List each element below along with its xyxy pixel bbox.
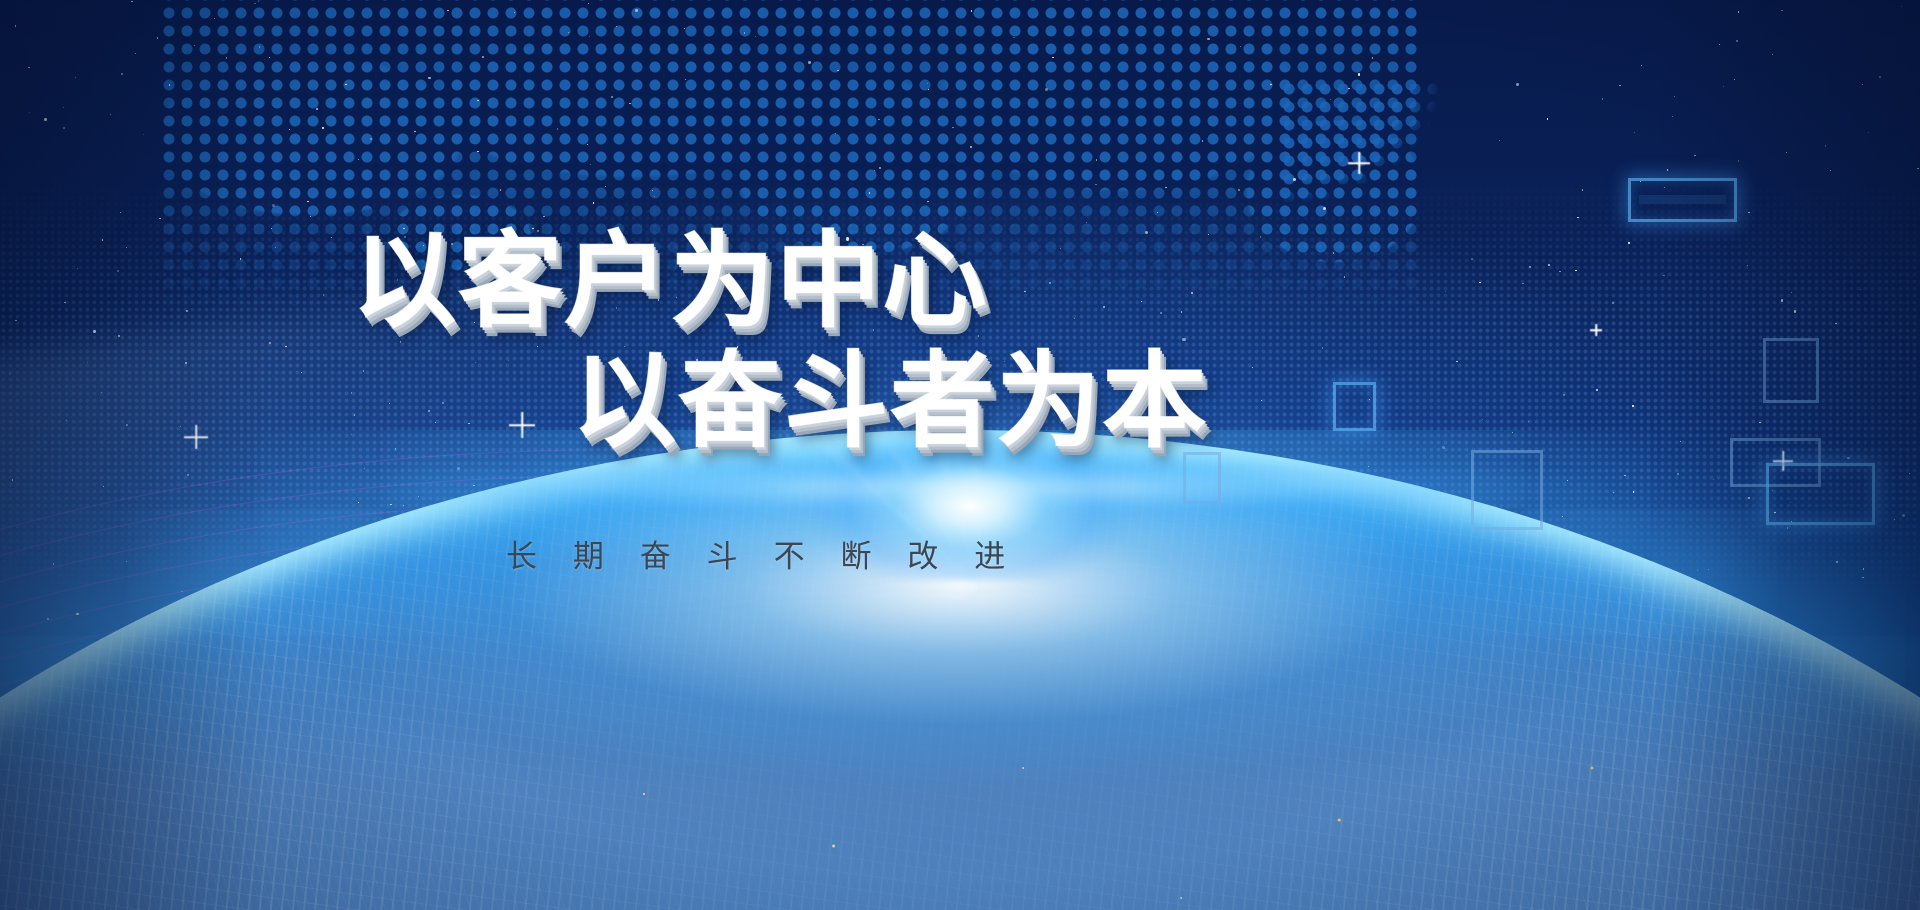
star-dot bbox=[1723, 86, 1724, 87]
star-dot bbox=[269, 57, 270, 58]
star-dot bbox=[593, 202, 594, 203]
star-dot bbox=[1547, 118, 1548, 119]
star-dot bbox=[404, 236, 405, 237]
star-dot bbox=[1344, 276, 1345, 277]
star-dot bbox=[1330, 99, 1331, 100]
star-dot bbox=[169, 84, 170, 85]
star-dot bbox=[254, 3, 255, 4]
star-dot bbox=[1759, 422, 1760, 423]
star-dot bbox=[143, 134, 144, 135]
star-dot bbox=[15, 25, 16, 26]
star-dot bbox=[744, 32, 745, 33]
star-dot bbox=[846, 237, 849, 240]
star-dot bbox=[285, 346, 286, 347]
star-dot bbox=[1879, 76, 1880, 77]
star-dot bbox=[927, 201, 928, 202]
star-dot bbox=[126, 247, 127, 248]
star-dot bbox=[240, 258, 241, 259]
star-dot bbox=[451, 243, 452, 244]
star-dot bbox=[331, 237, 332, 238]
star-dot bbox=[414, 131, 415, 132]
star-dot bbox=[537, 346, 538, 347]
star-dot bbox=[1860, 289, 1861, 290]
star-dot bbox=[351, 392, 352, 393]
star-dot bbox=[1602, 98, 1603, 99]
star-dot bbox=[1372, 57, 1373, 58]
frame-tall-mid bbox=[1763, 338, 1819, 403]
star-dot bbox=[971, 10, 972, 11]
star-dot bbox=[1719, 44, 1720, 45]
star-dot bbox=[611, 96, 613, 98]
star-dot bbox=[652, 190, 653, 191]
star-dot bbox=[902, 276, 903, 277]
star-dot bbox=[301, 372, 302, 373]
star-dot bbox=[685, 79, 686, 80]
star-dot bbox=[117, 270, 119, 272]
star-dot bbox=[1791, 292, 1792, 293]
frame-landscape-lower bbox=[1766, 463, 1875, 525]
star-dot bbox=[64, 302, 65, 303]
star-dot bbox=[477, 100, 478, 101]
star-dot bbox=[1060, 248, 1061, 249]
star-dot bbox=[588, 3, 589, 4]
star-dot bbox=[269, 342, 271, 344]
star-dot bbox=[275, 247, 276, 248]
star-dot bbox=[66, 420, 67, 421]
star-dot bbox=[397, 279, 398, 280]
star-dot bbox=[1734, 79, 1735, 80]
star-dot bbox=[1830, 170, 1831, 171]
star-dot bbox=[428, 410, 429, 411]
star-dot bbox=[370, 138, 371, 139]
star-dot bbox=[616, 26, 617, 27]
star-dot bbox=[862, 244, 863, 245]
star-dot bbox=[121, 73, 123, 75]
star-dot bbox=[654, 196, 655, 197]
star-dot bbox=[717, 256, 720, 259]
star-dot bbox=[75, 77, 76, 78]
star-dot bbox=[9, 373, 10, 374]
star-dot bbox=[447, 10, 448, 11]
star-dot bbox=[1202, 140, 1203, 141]
star-dot bbox=[403, 228, 404, 229]
star-dot bbox=[1781, 10, 1782, 11]
star-dot bbox=[477, 151, 478, 152]
star-dot bbox=[1862, 84, 1863, 85]
star-dot bbox=[1563, 394, 1565, 396]
star-dot bbox=[15, 320, 16, 321]
star-dot bbox=[469, 247, 470, 248]
star-dot bbox=[29, 112, 30, 113]
star-dot bbox=[101, 392, 102, 393]
poster-canvas: 以客户为中心 以奋斗者为本 长 期 奋 斗 不 断 改 进 bbox=[0, 0, 1920, 910]
star-dot bbox=[1628, 242, 1629, 243]
subtitle-slogan: 长 期 奋 斗 不 断 改 进 bbox=[506, 531, 1018, 576]
star-dot bbox=[442, 402, 444, 404]
star-dot bbox=[1738, 160, 1739, 161]
star-dot bbox=[532, 228, 533, 229]
star-dot bbox=[186, 310, 187, 311]
star-dot bbox=[1348, 88, 1349, 89]
star-dot bbox=[1095, 184, 1096, 185]
star-dot bbox=[428, 77, 430, 79]
star-dot bbox=[1238, 189, 1240, 191]
star-dot bbox=[159, 218, 160, 219]
star-dot bbox=[1358, 73, 1360, 75]
star-dot bbox=[1674, 96, 1675, 97]
star-dot bbox=[869, 192, 870, 193]
star-dot bbox=[1559, 271, 1560, 272]
star-dot bbox=[1270, 84, 1271, 85]
star-dot bbox=[259, 46, 260, 47]
star-dot bbox=[537, 230, 538, 231]
star-dot bbox=[1781, 299, 1783, 301]
star-dot bbox=[44, 118, 47, 121]
star-dot bbox=[1529, 266, 1530, 267]
star-dot bbox=[1207, 38, 1209, 40]
star-dot bbox=[835, 133, 836, 134]
star-dot bbox=[135, 53, 136, 54]
star-dot bbox=[676, 297, 677, 298]
star-dot bbox=[874, 170, 875, 171]
star-dot bbox=[28, 67, 29, 68]
frame-tiny-left-of-wei bbox=[1183, 452, 1221, 504]
star-dot bbox=[1786, 152, 1787, 153]
star-dot bbox=[1482, 419, 1483, 420]
star-dot bbox=[1672, 116, 1673, 117]
star-dot bbox=[629, 103, 630, 104]
star-dot bbox=[808, 61, 811, 64]
star-dot bbox=[522, 287, 523, 288]
star-dot bbox=[980, 284, 981, 285]
star-dot bbox=[539, 257, 540, 258]
star-dot bbox=[1596, 389, 1598, 391]
star-sparkle bbox=[1590, 324, 1602, 336]
star-sparkle bbox=[1348, 152, 1370, 174]
star-dot bbox=[1165, 187, 1166, 188]
star-dot bbox=[1901, 6, 1902, 7]
star-dot bbox=[271, 228, 272, 229]
star-dot bbox=[345, 84, 346, 85]
star-dot bbox=[289, 129, 290, 130]
star-dot bbox=[1634, 132, 1635, 133]
star-dot bbox=[307, 201, 308, 202]
star-dot bbox=[214, 18, 215, 19]
star-dot bbox=[1516, 83, 1519, 86]
star-dot bbox=[1577, 217, 1578, 218]
star-dot bbox=[568, 32, 569, 33]
star-dot bbox=[553, 295, 555, 297]
star-dot bbox=[1748, 212, 1749, 213]
star-dot bbox=[1471, 258, 1473, 260]
star-dot bbox=[1738, 11, 1739, 12]
star-dot bbox=[120, 212, 121, 213]
star-dot bbox=[879, 167, 880, 168]
star-dot bbox=[1667, 169, 1668, 170]
star-dot bbox=[194, 45, 195, 46]
star-dot bbox=[1013, 37, 1014, 38]
star-dot bbox=[1663, 275, 1664, 276]
star-dot bbox=[157, 37, 158, 38]
star-dot bbox=[1835, 323, 1836, 324]
star-dot bbox=[557, 128, 558, 129]
star-dot bbox=[605, 186, 606, 187]
star-dot bbox=[484, 285, 485, 286]
star-dot bbox=[185, 362, 187, 364]
star-dot bbox=[258, 1, 259, 2]
star-dot bbox=[1456, 361, 1457, 362]
star-dot bbox=[1528, 421, 1529, 422]
star-dot bbox=[1145, 231, 1148, 234]
star-dot bbox=[389, 403, 390, 404]
star-dot bbox=[1522, 283, 1523, 284]
star-dot bbox=[322, 127, 323, 128]
star-dot bbox=[878, 119, 879, 120]
frame-portrait-left bbox=[1471, 450, 1543, 530]
star-dot bbox=[1191, 292, 1193, 294]
star-dot bbox=[468, 423, 469, 424]
star-dot bbox=[764, 133, 765, 134]
star-dot bbox=[1619, 85, 1620, 86]
star-dot bbox=[363, 370, 364, 371]
star-dot bbox=[272, 204, 275, 207]
star-dot bbox=[928, 89, 929, 90]
star-dot bbox=[63, 107, 64, 108]
star-dot bbox=[474, 322, 475, 323]
star-dot bbox=[543, 216, 544, 217]
star-dot bbox=[1157, 212, 1158, 213]
star-dot bbox=[508, 360, 509, 361]
star-dot bbox=[87, 362, 88, 363]
star-dot bbox=[1612, 302, 1613, 303]
star-dot bbox=[500, 189, 501, 190]
star-dot bbox=[423, 245, 424, 246]
star-dot bbox=[482, 56, 484, 58]
star-dot bbox=[1052, 57, 1053, 58]
star-dot bbox=[1575, 270, 1576, 271]
star-dot bbox=[1208, 234, 1209, 235]
star-dot bbox=[684, 28, 685, 29]
star-dot bbox=[1293, 178, 1296, 181]
star-dot bbox=[358, 159, 359, 160]
star-dot bbox=[102, 239, 103, 240]
frame-bar-top-right-inner-bar bbox=[1639, 195, 1726, 203]
star-dot bbox=[970, 146, 971, 147]
star-dot bbox=[1445, 291, 1446, 292]
star-dot bbox=[93, 330, 96, 333]
star-dot bbox=[1096, 159, 1097, 160]
star-dot bbox=[366, 297, 367, 298]
star-dot bbox=[1825, 145, 1826, 146]
star-dot bbox=[590, 164, 591, 165]
frame-bar-top-right bbox=[1628, 178, 1737, 222]
star-dot bbox=[1794, 310, 1796, 312]
star-dot bbox=[927, 83, 928, 84]
star-dot bbox=[755, 36, 756, 37]
star-dot bbox=[110, 114, 111, 115]
star-dot bbox=[587, 144, 588, 145]
star-dot bbox=[323, 294, 324, 295]
star-dot bbox=[1479, 282, 1480, 283]
star-dot bbox=[514, 12, 515, 13]
star-dot bbox=[1499, 140, 1500, 141]
star-dot bbox=[837, 70, 838, 71]
star-dot bbox=[310, 216, 311, 217]
star-dot bbox=[1736, 40, 1737, 41]
star-dot bbox=[226, 57, 227, 58]
star-dot bbox=[118, 335, 119, 336]
star-dot bbox=[1024, 291, 1025, 292]
star-dot bbox=[1323, 207, 1326, 210]
star-dot bbox=[354, 414, 355, 415]
star-dot bbox=[435, 422, 436, 423]
star-dot bbox=[1240, 46, 1241, 47]
star-dot bbox=[1049, 282, 1050, 283]
star-dot bbox=[381, 308, 382, 309]
star-dot bbox=[1772, 54, 1773, 55]
star-dot bbox=[1548, 264, 1549, 265]
star-dot bbox=[1868, 132, 1869, 133]
star-dot bbox=[131, 1, 132, 2]
star-dot bbox=[316, 108, 318, 110]
star-dot bbox=[1086, 222, 1087, 223]
star-dot bbox=[1632, 405, 1633, 406]
star-dot bbox=[63, 127, 65, 129]
star-dot bbox=[589, 36, 590, 37]
star-dot bbox=[952, 127, 953, 128]
star-dot bbox=[1260, 236, 1261, 237]
star-dot bbox=[635, 9, 638, 12]
star-dot bbox=[1582, 189, 1583, 190]
star-dot bbox=[475, 362, 476, 363]
star-dot bbox=[605, 284, 606, 285]
star-dot bbox=[595, 391, 596, 392]
star-dot bbox=[77, 268, 78, 269]
star-dot bbox=[581, 301, 582, 302]
star-dot bbox=[400, 341, 401, 342]
frame-small-upper-left bbox=[1333, 382, 1376, 431]
star-dot bbox=[1694, 155, 1695, 156]
star-dot bbox=[1917, 168, 1918, 169]
star-dot bbox=[1747, 265, 1748, 266]
star-dot bbox=[1045, 88, 1048, 91]
star-dot bbox=[1333, 252, 1334, 253]
star-dot bbox=[1641, 65, 1642, 66]
